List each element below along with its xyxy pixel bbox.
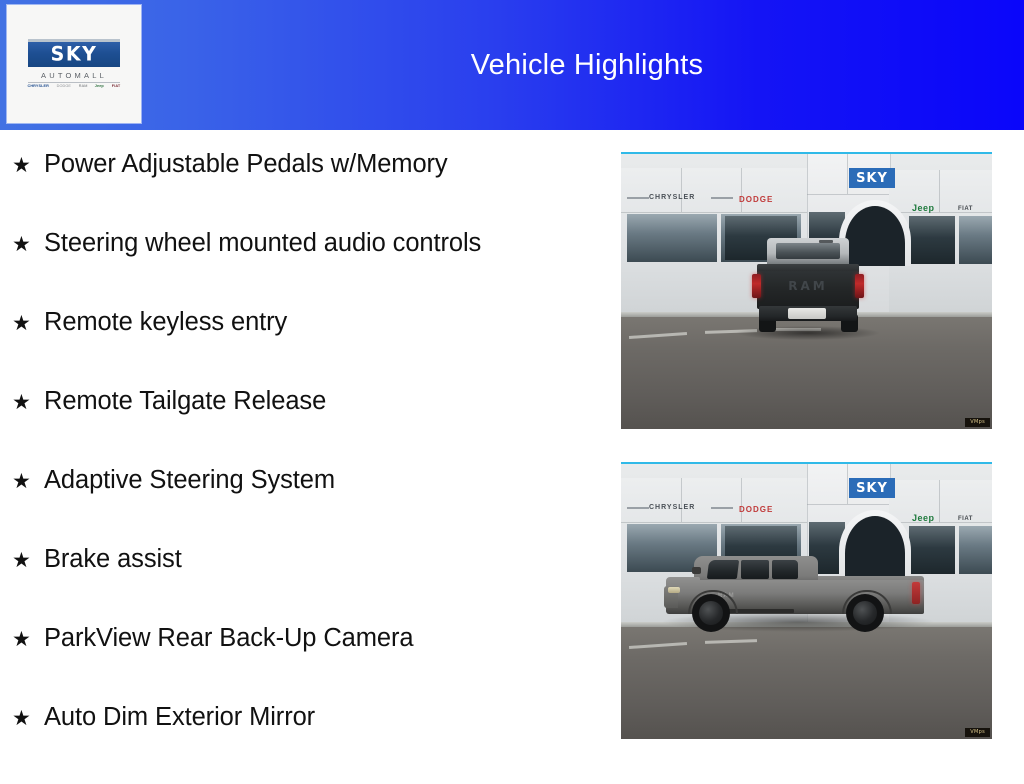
truck-tailgate: RAM <box>757 271 859 309</box>
feature-label: Adaptive Steering System <box>44 468 335 494</box>
truck-rear-window <box>772 560 798 579</box>
truck-windshield <box>707 560 739 579</box>
photo-watermark: VMps <box>965 418 990 427</box>
logo-subtitle: AUTOMALL <box>41 71 107 80</box>
brand-mark-fiat: FIAT <box>112 85 121 89</box>
brand-mark-dodge: DODGE <box>56 85 70 89</box>
page-header: Vehicle Highlights <box>0 0 1024 130</box>
tail-lamp <box>752 274 761 298</box>
side-mirror <box>692 567 701 574</box>
truck-front-window <box>741 560 769 579</box>
list-item: ★ Steering wheel mounted audio controls <box>0 231 610 310</box>
feature-label: ParkView Rear Back-Up Camera <box>44 626 413 652</box>
photo-watermark: VMps <box>965 728 990 737</box>
list-item: ★ Remote Tailgate Release <box>0 389 610 468</box>
list-item: ★ Power Adjustable Pedals w/Memory <box>0 152 610 231</box>
sky-building-sign: SKY <box>849 168 895 188</box>
headlight <box>668 587 680 593</box>
vehicle-highlights-list: ★ Power Adjustable Pedals w/Memory ★ Ste… <box>0 130 610 768</box>
feature-label: Remote keyless entry <box>44 310 287 336</box>
list-item: ★ Brake assist <box>0 547 610 626</box>
logo-brand-row: CHRYSLER DODGE RAM Jeep FIAT <box>28 85 120 89</box>
parking-lot <box>621 626 992 739</box>
star-icon: ★ <box>12 392 44 413</box>
list-item: ★ ParkView Rear Back-Up Camera <box>0 626 610 705</box>
star-icon: ★ <box>12 708 44 729</box>
star-icon: ★ <box>12 313 44 334</box>
fiat-sign: FIAT <box>958 206 973 212</box>
dealer-logo[interactable]: SKY AUTOMALL CHRYSLER DODGE RAM Jeep FIA… <box>7 5 141 123</box>
star-icon: ★ <box>12 155 44 176</box>
fiat-sign: FIAT <box>958 516 973 522</box>
truck-rear-view: RAM <box>749 238 867 334</box>
star-icon: ★ <box>12 471 44 492</box>
star-icon: ★ <box>12 550 44 571</box>
ram-badge: RAM <box>757 279 859 293</box>
truck-wheel <box>692 594 730 632</box>
star-icon: ★ <box>12 234 44 255</box>
list-item: ★ Remote keyless entry <box>0 310 610 389</box>
logo-inner: SKY AUTOMALL CHRYSLER DODGE RAM Jeep FIA… <box>26 39 122 89</box>
truck-rear-window <box>776 243 840 259</box>
logo-sky-badge: SKY <box>28 39 120 67</box>
feature-label: Brake assist <box>44 547 182 573</box>
feature-label: Steering wheel mounted audio controls <box>44 231 481 257</box>
logo-divider <box>28 82 120 83</box>
feature-label: Auto Dim Exterior Mirror <box>44 705 315 731</box>
dodge-sign: DODGE <box>739 196 773 204</box>
jeep-sign: Jeep <box>912 514 935 523</box>
license-plate <box>788 308 826 319</box>
feature-label: Remote Tailgate Release <box>44 389 326 415</box>
brand-mark-ram: RAM <box>78 85 87 89</box>
tail-lamp <box>912 582 920 604</box>
brand-mark-chrysler: CHRYSLER <box>27 85 48 89</box>
truck-side-view: RAM <box>666 550 928 640</box>
truck-wheel <box>846 594 884 632</box>
page-title: Vehicle Highlights <box>150 0 1024 130</box>
logo-sky-text: SKY <box>51 44 98 64</box>
chrysler-sign: CHRYSLER <box>649 194 695 201</box>
vehicle-photo-rear[interactable]: SKY CHRYSLER DODGE Jeep FIAT RAM VMps <box>621 152 992 429</box>
jeep-sign: Jeep <box>912 204 935 213</box>
brand-mark-jeep: Jeep <box>95 85 104 89</box>
vehicle-photo-side[interactable]: SKY CHRYSLER DODGE Jeep FIAT RAM VMps <box>621 462 992 739</box>
list-item: ★ Adaptive Steering System <box>0 468 610 547</box>
sky-building-sign: SKY <box>849 478 895 498</box>
chrysler-sign: CHRYSLER <box>649 504 695 511</box>
tail-lamp <box>855 274 864 298</box>
dodge-sign: DODGE <box>739 506 773 514</box>
star-icon: ★ <box>12 629 44 650</box>
feature-label: Power Adjustable Pedals w/Memory <box>44 152 448 178</box>
list-item: ★ Auto Dim Exterior Mirror <box>0 705 610 784</box>
